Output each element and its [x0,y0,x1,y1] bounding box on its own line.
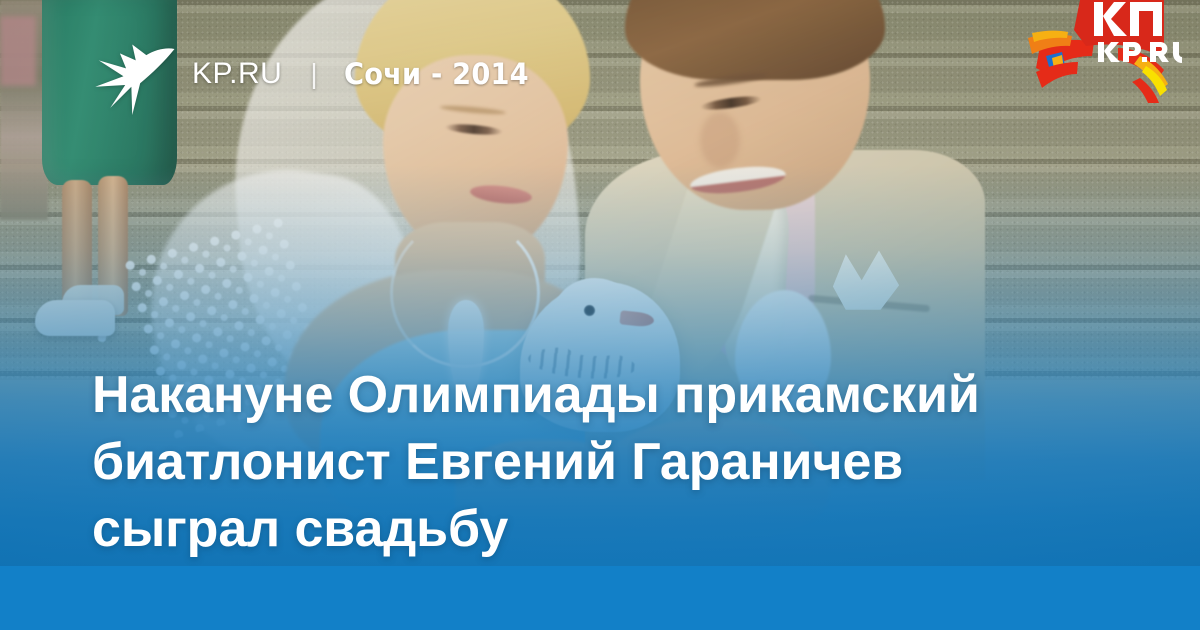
brand-separator: | [310,60,317,88]
bottom-solid-band [0,566,1200,630]
event-label: Сочи - 2014 [344,60,529,89]
headline-title: Накануне Олимпиады прикамский биатлонист… [92,362,1102,563]
kp-ru-flame-logo-icon[interactable] [1022,0,1182,105]
card-header: KP.RU | Сочи - 2014 [0,0,1200,130]
brand-row: KP.RU | Сочи - 2014 [192,54,540,94]
share-card: KP.RU | Сочи - 2014 [0,0,1200,630]
swallow-bird-icon [90,32,178,124]
brand-label[interactable]: KP.RU [192,59,282,89]
